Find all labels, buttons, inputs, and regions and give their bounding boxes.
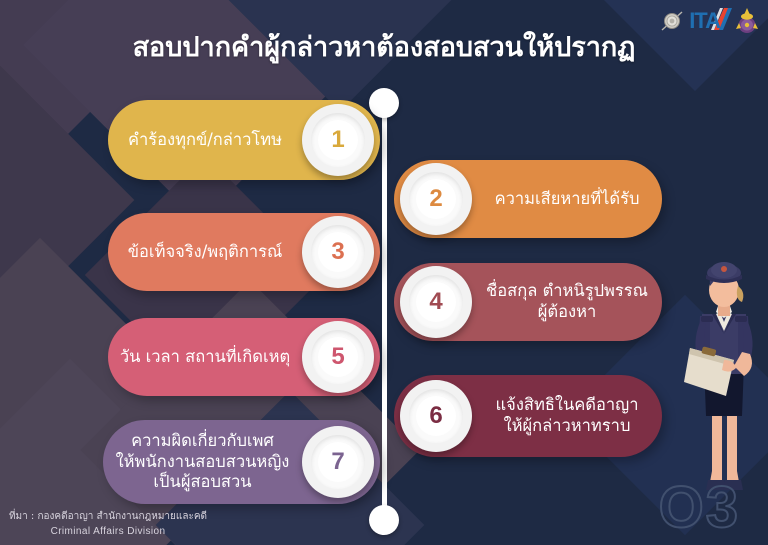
step-label-5: วัน เวลา สถานที่เกิดเหตุ xyxy=(108,347,302,368)
step-pill-3[interactable]: ข้อเท็จจริง/พฤติการณ์ 3 xyxy=(108,213,380,291)
police-shield-icon xyxy=(659,8,685,34)
step-number-badge-4: 4 xyxy=(400,266,472,338)
step-number-badge-1: 1 xyxy=(302,104,374,176)
step-pill-7[interactable]: ความผิดเกี่ยวกับเพศ ให้พนักงานสอบสวนหญิง… xyxy=(103,420,380,504)
step-label-4: ชื่อสกุล ตำหนิรูปพรรณ ผู้ต้องหา xyxy=(472,281,662,322)
step-number-4: 4 xyxy=(429,288,442,316)
step-number-badge-2: 2 xyxy=(400,163,472,235)
police-officer-illustration xyxy=(672,256,768,500)
source-credit: ที่มา : กองคดีอาญา สำนักงานกฎหมายและคดี … xyxy=(8,510,208,539)
step-number-badge-7: 7 xyxy=(302,426,374,498)
step-pill-1[interactable]: คำร้องทุกข์/กล่าวโทษ 1 xyxy=(108,100,380,180)
step-pill-4[interactable]: 4 ชื่อสกุล ตำหนิรูปพรรณ ผู้ต้องหา xyxy=(394,263,662,341)
page-title: สอบปากคำผู้กล่าวหาต้องสอบสวนให้ปรากฏ xyxy=(0,32,768,63)
timeline-dot-bottom xyxy=(369,505,399,535)
source-credit-english: Criminal Affairs Division xyxy=(8,525,208,540)
royal-thai-emblem-icon xyxy=(736,7,758,35)
step-number-5: 5 xyxy=(331,343,344,371)
ita-logo-stripes xyxy=(724,6,732,36)
slide-root: ITA สอบปากคำผู้กล่าวหาต้องสอบสวนให้ปรากฏ xyxy=(0,0,768,545)
step-label-1: คำร้องทุกข์/กล่าวโทษ xyxy=(108,130,302,151)
step-pill-6[interactable]: 6 แจ้งสิทธิในคดีอาญา ให้ผู้กล่าวหาทราบ xyxy=(394,375,662,457)
step-number-3: 3 xyxy=(331,238,344,266)
step-number-badge-5: 5 xyxy=(302,321,374,393)
step-number-2: 2 xyxy=(429,185,442,213)
ita-logo-text: ITA xyxy=(689,10,720,32)
step-number-badge-3: 3 xyxy=(302,216,374,288)
step-number-1: 1 xyxy=(331,126,344,154)
timeline-line xyxy=(382,103,387,523)
step-label-6: แจ้งสิทธิในคดีอาญา ให้ผู้กล่าวหาทราบ xyxy=(472,395,662,436)
page-number: O3 xyxy=(659,479,740,537)
step-label-7: ความผิดเกี่ยวกับเพศ ให้พนักงานสอบสวนหญิง… xyxy=(103,431,302,493)
step-number-badge-6: 6 xyxy=(400,380,472,452)
header-logo-group: ITA xyxy=(659,6,758,36)
step-label-2: ความเสียหายที่ได้รับ xyxy=(472,189,662,210)
step-number-7: 7 xyxy=(331,448,344,476)
source-credit-thai: ที่มา : กองคดีอาญา สำนักงานกฎหมายและคดี xyxy=(8,510,208,525)
timeline-dot-top xyxy=(369,88,399,118)
step-label-3: ข้อเท็จจริง/พฤติการณ์ xyxy=(108,242,302,263)
step-pill-5[interactable]: วัน เวลา สถานที่เกิดเหตุ 5 xyxy=(108,318,380,396)
step-number-6: 6 xyxy=(429,402,442,430)
step-pill-2[interactable]: 2 ความเสียหายที่ได้รับ xyxy=(394,160,662,238)
